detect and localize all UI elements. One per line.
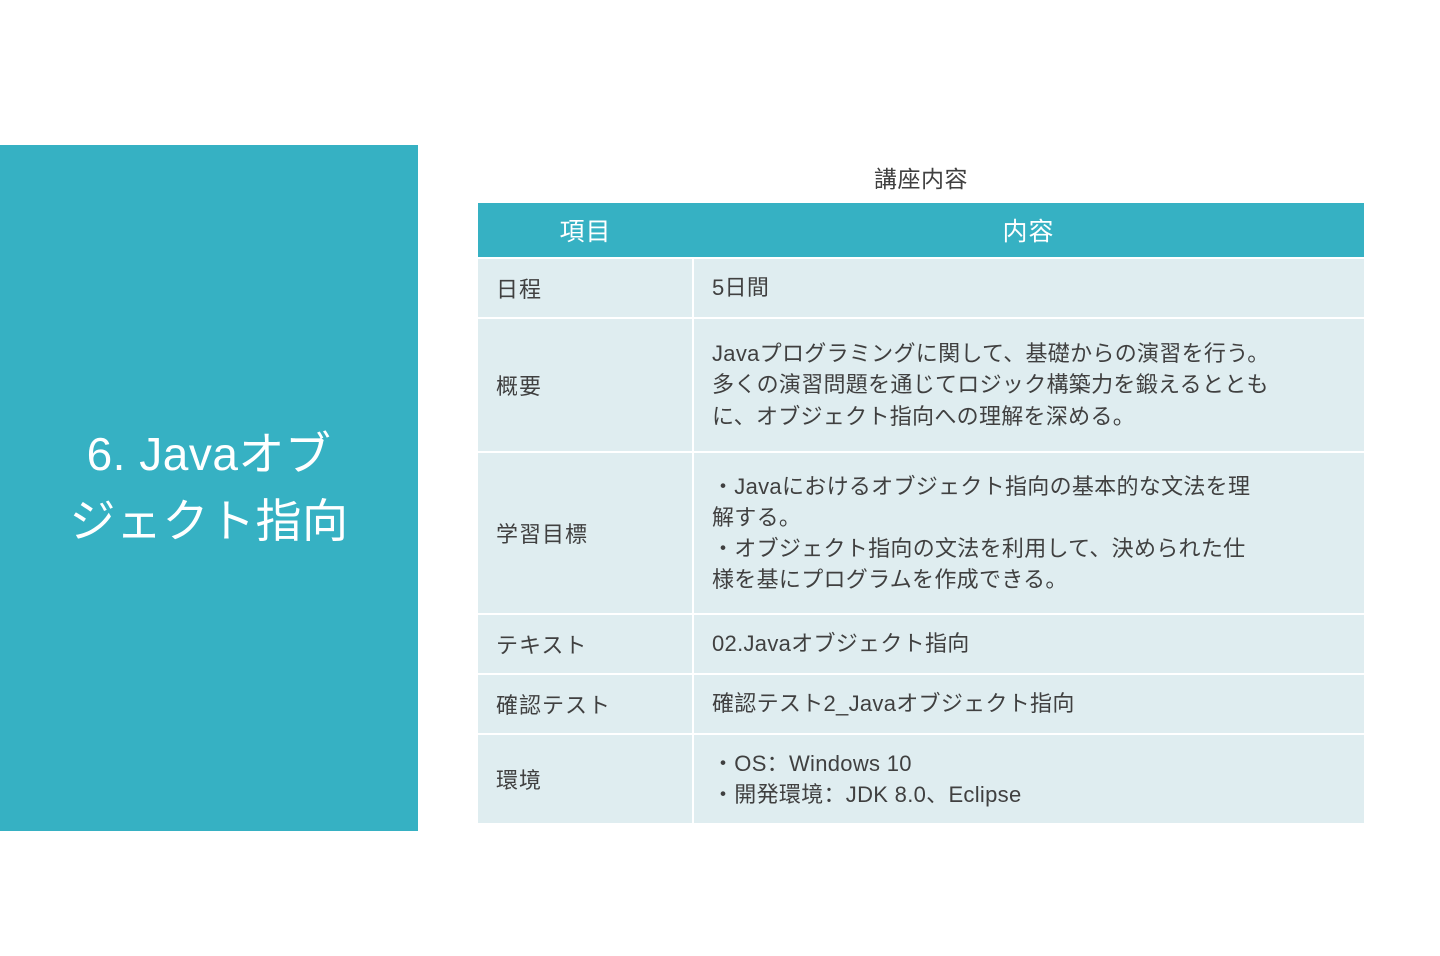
table-header-content: 内容 bbox=[693, 203, 1364, 258]
table-row: 概要 Javaプログラミングに関して、基礎からの演習を行う。 多くの演習問題を通… bbox=[478, 318, 1364, 452]
page-title: 6. Javaオブ ジェクト指向 bbox=[52, 421, 367, 554]
row-label-objectives: 学習目標 bbox=[478, 452, 693, 614]
table-row: 環境 ・OS：Windows 10 ・開発環境：JDK 8.0、Eclipse bbox=[478, 734, 1364, 824]
row-value-overview: Javaプログラミングに関して、基礎からの演習を行う。 多くの演習問題を通じてロ… bbox=[693, 318, 1364, 452]
row-value-test: 確認テスト2_Javaオブジェクト指向 bbox=[693, 674, 1364, 734]
course-content-section: 講座内容 項目 内容 日程 5日間 概要 Javaプログラミングに関して、基礎か… bbox=[478, 160, 1364, 825]
row-value-schedule: 5日間 bbox=[693, 258, 1364, 318]
row-value-environment: ・OS：Windows 10 ・開発環境：JDK 8.0、Eclipse bbox=[693, 734, 1364, 824]
row-label-overview: 概要 bbox=[478, 318, 693, 452]
row-label-schedule: 日程 bbox=[478, 258, 693, 318]
table-row: テキスト 02.Javaオブジェクト指向 bbox=[478, 614, 1364, 674]
table-caption: 講座内容 bbox=[478, 160, 1364, 194]
slide-title-panel: 6. Javaオブ ジェクト指向 bbox=[0, 145, 418, 831]
row-label-textbook: テキスト bbox=[478, 614, 693, 674]
row-value-textbook: 02.Javaオブジェクト指向 bbox=[693, 614, 1364, 674]
row-value-objectives: ・Javaにおけるオブジェクト指向の基本的な文法を理 解する。 ・オブジェクト指… bbox=[693, 452, 1364, 614]
table-header-row: 項目 内容 bbox=[478, 203, 1364, 258]
row-label-environment: 環境 bbox=[478, 734, 693, 824]
table-row: 確認テスト 確認テスト2_Javaオブジェクト指向 bbox=[478, 674, 1364, 734]
row-label-test: 確認テスト bbox=[478, 674, 693, 734]
course-content-table: 項目 内容 日程 5日間 概要 Javaプログラミングに関して、基礎からの演習を… bbox=[478, 203, 1364, 825]
table-row: 日程 5日間 bbox=[478, 258, 1364, 318]
table-header-item: 項目 bbox=[478, 203, 693, 258]
table-row: 学習目標 ・Javaにおけるオブジェクト指向の基本的な文法を理 解する。 ・オブ… bbox=[478, 452, 1364, 614]
